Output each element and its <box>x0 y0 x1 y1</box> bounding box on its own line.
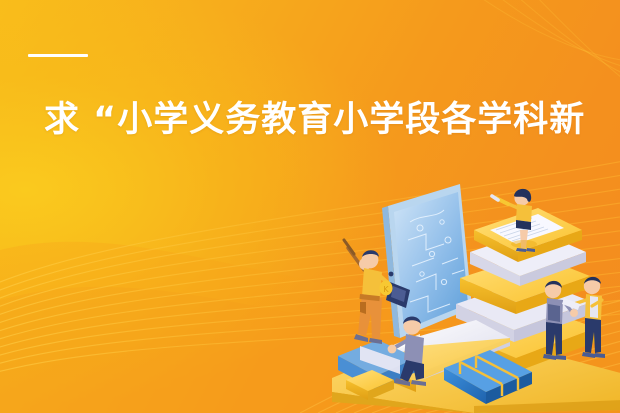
accent-rule <box>28 54 88 57</box>
svg-text:K: K <box>383 285 389 294</box>
telescope <box>492 196 508 204</box>
education-books-people-illustration: K <box>324 178 620 413</box>
coin-accent: K <box>380 281 393 296</box>
promo-banner: 求 “小学义务教育小学段各学科新 <box>0 0 620 413</box>
page-title: 求 “小学义务教育小学段各学科新 <box>44 98 604 142</box>
